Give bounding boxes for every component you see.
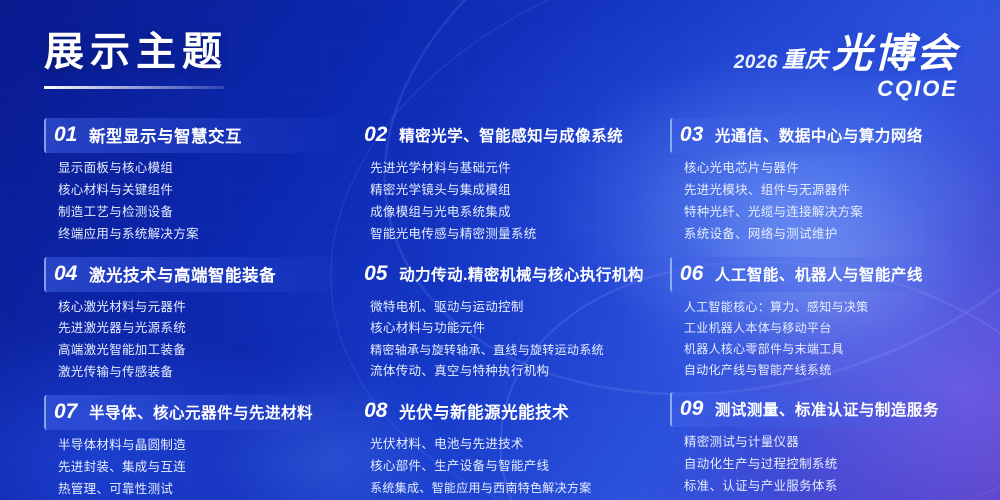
column-2: 02 精密光学、智能感知与成像系统 先进光学材料与基础元件 精密光学镜头与集成模… <box>356 118 652 500</box>
theme-block-header: 03 光通信、数据中心与算力网络 <box>670 118 964 153</box>
page-title: 展示主题 <box>44 30 228 74</box>
list-item: 系统集成、智能应用与西南特色解决方案 <box>370 480 652 496</box>
theme-item-list: 核心激光材料与元器件 先进激光器与光源系统 高端激光智能加工装备 激光传输与传感… <box>58 299 338 382</box>
theme-block-header: 08 光伏与新能源光能技术 <box>356 394 652 429</box>
list-item: 标准、认证与产业服务体系 <box>684 478 964 495</box>
theme-block[interactable]: 07 半导体、核心元器件与先进材料 半导体材料与晶圆制造 先进封装、集成与互连 … <box>44 395 338 500</box>
header: 展示主题 <box>44 30 228 89</box>
list-item: 核心部件、生产设备与智能产线 <box>370 458 652 475</box>
theme-number: 02 <box>364 123 390 147</box>
theme-item-list: 微特电机、驱动与运动控制 核心材料与功能元件 精密轴承与旋转轴承、直线与旋转运动… <box>370 299 652 381</box>
theme-title: 动力传动.精密机械与核心执行机构 <box>399 263 644 285</box>
list-item: 自动化产线与智能产线系统 <box>684 362 964 378</box>
list-item: 智能光电传感与精密测量系统 <box>370 226 652 243</box>
list-item: 流体传动、真空与特种执行机构 <box>370 363 652 380</box>
list-item: 先进光模块、组件与无源器件 <box>684 182 964 199</box>
theme-number: 03 <box>680 123 706 147</box>
column-3: 03 光通信、数据中心与算力网络 核心光电芯片与器件 先进光模块、组件与无源器件… <box>670 118 964 500</box>
theme-number: 09 <box>680 397 706 421</box>
list-item: 先进激光器与光源系统 <box>58 320 338 337</box>
theme-number: 07 <box>54 400 80 424</box>
theme-item-list: 先进光学材料与基础元件 精密光学镜头与集成模组 成像模组与光电系统集成 智能光电… <box>370 160 652 243</box>
list-item: 先进封装、集成与互连 <box>58 459 338 476</box>
list-item: 光伏材料、电池与先进技术 <box>370 436 652 453</box>
theme-block-header: 01 新型显示与智慧交互 <box>44 118 338 153</box>
theme-block-header: 04 激光技术与高端智能装备 <box>44 257 338 292</box>
theme-block[interactable]: 01 新型显示与智慧交互 显示面板与核心模组 核心材料与关键组件 制造工艺与检测… <box>44 118 338 243</box>
theme-block[interactable]: 09 测试测量、标准认证与制造服务 精密测试与计量仪器 自动化生产与过程控制系统… <box>670 392 964 495</box>
theme-title: 测试测量、标准认证与制造服务 <box>715 398 939 420</box>
list-item: 热管理、可靠性测试 <box>58 481 338 498</box>
logo-abbreviation: CQIOE <box>877 76 958 102</box>
logo-name: 光博会 <box>832 34 958 74</box>
logo-city: 重庆 <box>782 42 828 74</box>
theme-block-header: 05 动力传动.精密机械与核心执行机构 <box>356 257 652 292</box>
theme-block[interactable]: 03 光通信、数据中心与算力网络 核心光电芯片与器件 先进光模块、组件与无源器件… <box>670 118 964 243</box>
theme-title: 人工智能、机器人与智能产线 <box>715 263 923 285</box>
list-item: 终端应用与系统解决方案 <box>58 226 338 243</box>
theme-item-list: 光伏材料、电池与先进技术 核心部件、生产设备与智能产线 系统集成、智能应用与西南… <box>370 436 652 500</box>
theme-number: 08 <box>364 399 390 423</box>
theme-number: 05 <box>364 262 390 286</box>
theme-item-list: 核心光电芯片与器件 先进光模块、组件与无源器件 特种光纤、光缆与连接解决方案 系… <box>684 160 964 243</box>
list-item: 激光传输与传感装备 <box>58 364 338 381</box>
theme-title: 光通信、数据中心与算力网络 <box>715 124 923 146</box>
event-logo: 2026 重庆 光博会 CQIOE <box>734 34 958 102</box>
list-item: 显示面板与核心模组 <box>58 160 338 177</box>
theme-block[interactable]: 04 激光技术与高端智能装备 核心激光材料与元器件 先进激光器与光源系统 高端激… <box>44 257 338 382</box>
list-item: 系统设备、网络与测试维护 <box>684 226 964 243</box>
list-item: 精密测试与计量仪器 <box>684 434 964 451</box>
theme-item-list: 精密测试与计量仪器 自动化生产与过程控制系统 标准、认证与产业服务体系 <box>684 434 964 495</box>
theme-item-list: 半导体材料与晶圆制造 先进封装、集成与互连 热管理、可靠性测试 核心元器件 <box>58 437 338 500</box>
theme-title: 精密光学、智能感知与成像系统 <box>399 124 623 146</box>
list-item: 核心光电芯片与器件 <box>684 160 964 177</box>
list-item: 自动化生产与过程控制系统 <box>684 456 964 473</box>
theme-number: 06 <box>680 262 706 286</box>
theme-block[interactable]: 02 精密光学、智能感知与成像系统 先进光学材料与基础元件 精密光学镜头与集成模… <box>356 118 652 243</box>
theme-block-header: 09 测试测量、标准认证与制造服务 <box>670 392 964 427</box>
theme-block-header: 07 半导体、核心元器件与先进材料 <box>44 395 338 430</box>
logo-top-row: 2026 重庆 光博会 <box>734 34 958 74</box>
theme-block[interactable]: 06 人工智能、机器人与智能产线 人工智能核心：算力、感知与决策 工业机器人本体… <box>670 257 964 379</box>
poster-canvas: 展示主题 2026 重庆 光博会 CQIOE 01 新型显示与智慧交互 显示面板… <box>0 0 1000 500</box>
theme-number: 01 <box>54 123 80 147</box>
list-item: 先进光学材料与基础元件 <box>370 160 652 177</box>
list-item: 核心材料与功能元件 <box>370 320 652 337</box>
theme-block-header: 06 人工智能、机器人与智能产线 <box>670 257 964 292</box>
list-item: 核心材料与关键组件 <box>58 182 338 199</box>
theme-title: 激光技术与高端智能装备 <box>89 262 276 286</box>
logo-year: 2026 <box>734 52 778 74</box>
theme-title: 新型显示与智慧交互 <box>89 123 242 147</box>
list-item: 制造工艺与检测设备 <box>58 204 338 221</box>
list-item: 特种光纤、光缆与连接解决方案 <box>684 204 964 221</box>
list-item: 半导体材料与晶圆制造 <box>58 437 338 454</box>
column-1: 01 新型显示与智慧交互 显示面板与核心模组 核心材料与关键组件 制造工艺与检测… <box>44 118 338 500</box>
theme-columns: 01 新型显示与智慧交互 显示面板与核心模组 核心材料与关键组件 制造工艺与检测… <box>44 118 964 500</box>
list-item: 人工智能核心：算力、感知与决策 <box>684 299 964 315</box>
theme-number: 04 <box>54 262 80 286</box>
theme-block[interactable]: 08 光伏与新能源光能技术 光伏材料、电池与先进技术 核心部件、生产设备与智能产… <box>356 394 652 500</box>
logo-bottom-row: CQIOE <box>734 76 958 102</box>
theme-item-list: 人工智能核心：算力、感知与决策 工业机器人本体与移动平台 机器人核心零部件与末端… <box>684 299 964 379</box>
theme-block-header: 02 精密光学、智能感知与成像系统 <box>356 118 652 153</box>
title-underline <box>44 86 224 89</box>
theme-title: 光伏与新能源光能技术 <box>399 399 569 423</box>
theme-title: 半导体、核心元器件与先进材料 <box>89 401 313 423</box>
list-item: 微特电机、驱动与运动控制 <box>370 299 652 316</box>
theme-item-list: 显示面板与核心模组 核心材料与关键组件 制造工艺与检测设备 终端应用与系统解决方… <box>58 160 338 243</box>
theme-block[interactable]: 05 动力传动.精密机械与核心执行机构 微特电机、驱动与运动控制 核心材料与功能… <box>356 257 652 381</box>
list-item: 成像模组与光电系统集成 <box>370 204 652 221</box>
list-item: 核心激光材料与元器件 <box>58 299 338 316</box>
list-item: 精密光学镜头与集成模组 <box>370 182 652 199</box>
list-item: 机器人核心零部件与末端工具 <box>684 341 964 357</box>
list-item: 工业机器人本体与移动平台 <box>684 320 964 336</box>
list-item: 精密轴承与旋转轴承、直线与旋转运动系统 <box>370 342 652 358</box>
list-item: 高端激光智能加工装备 <box>58 342 338 359</box>
